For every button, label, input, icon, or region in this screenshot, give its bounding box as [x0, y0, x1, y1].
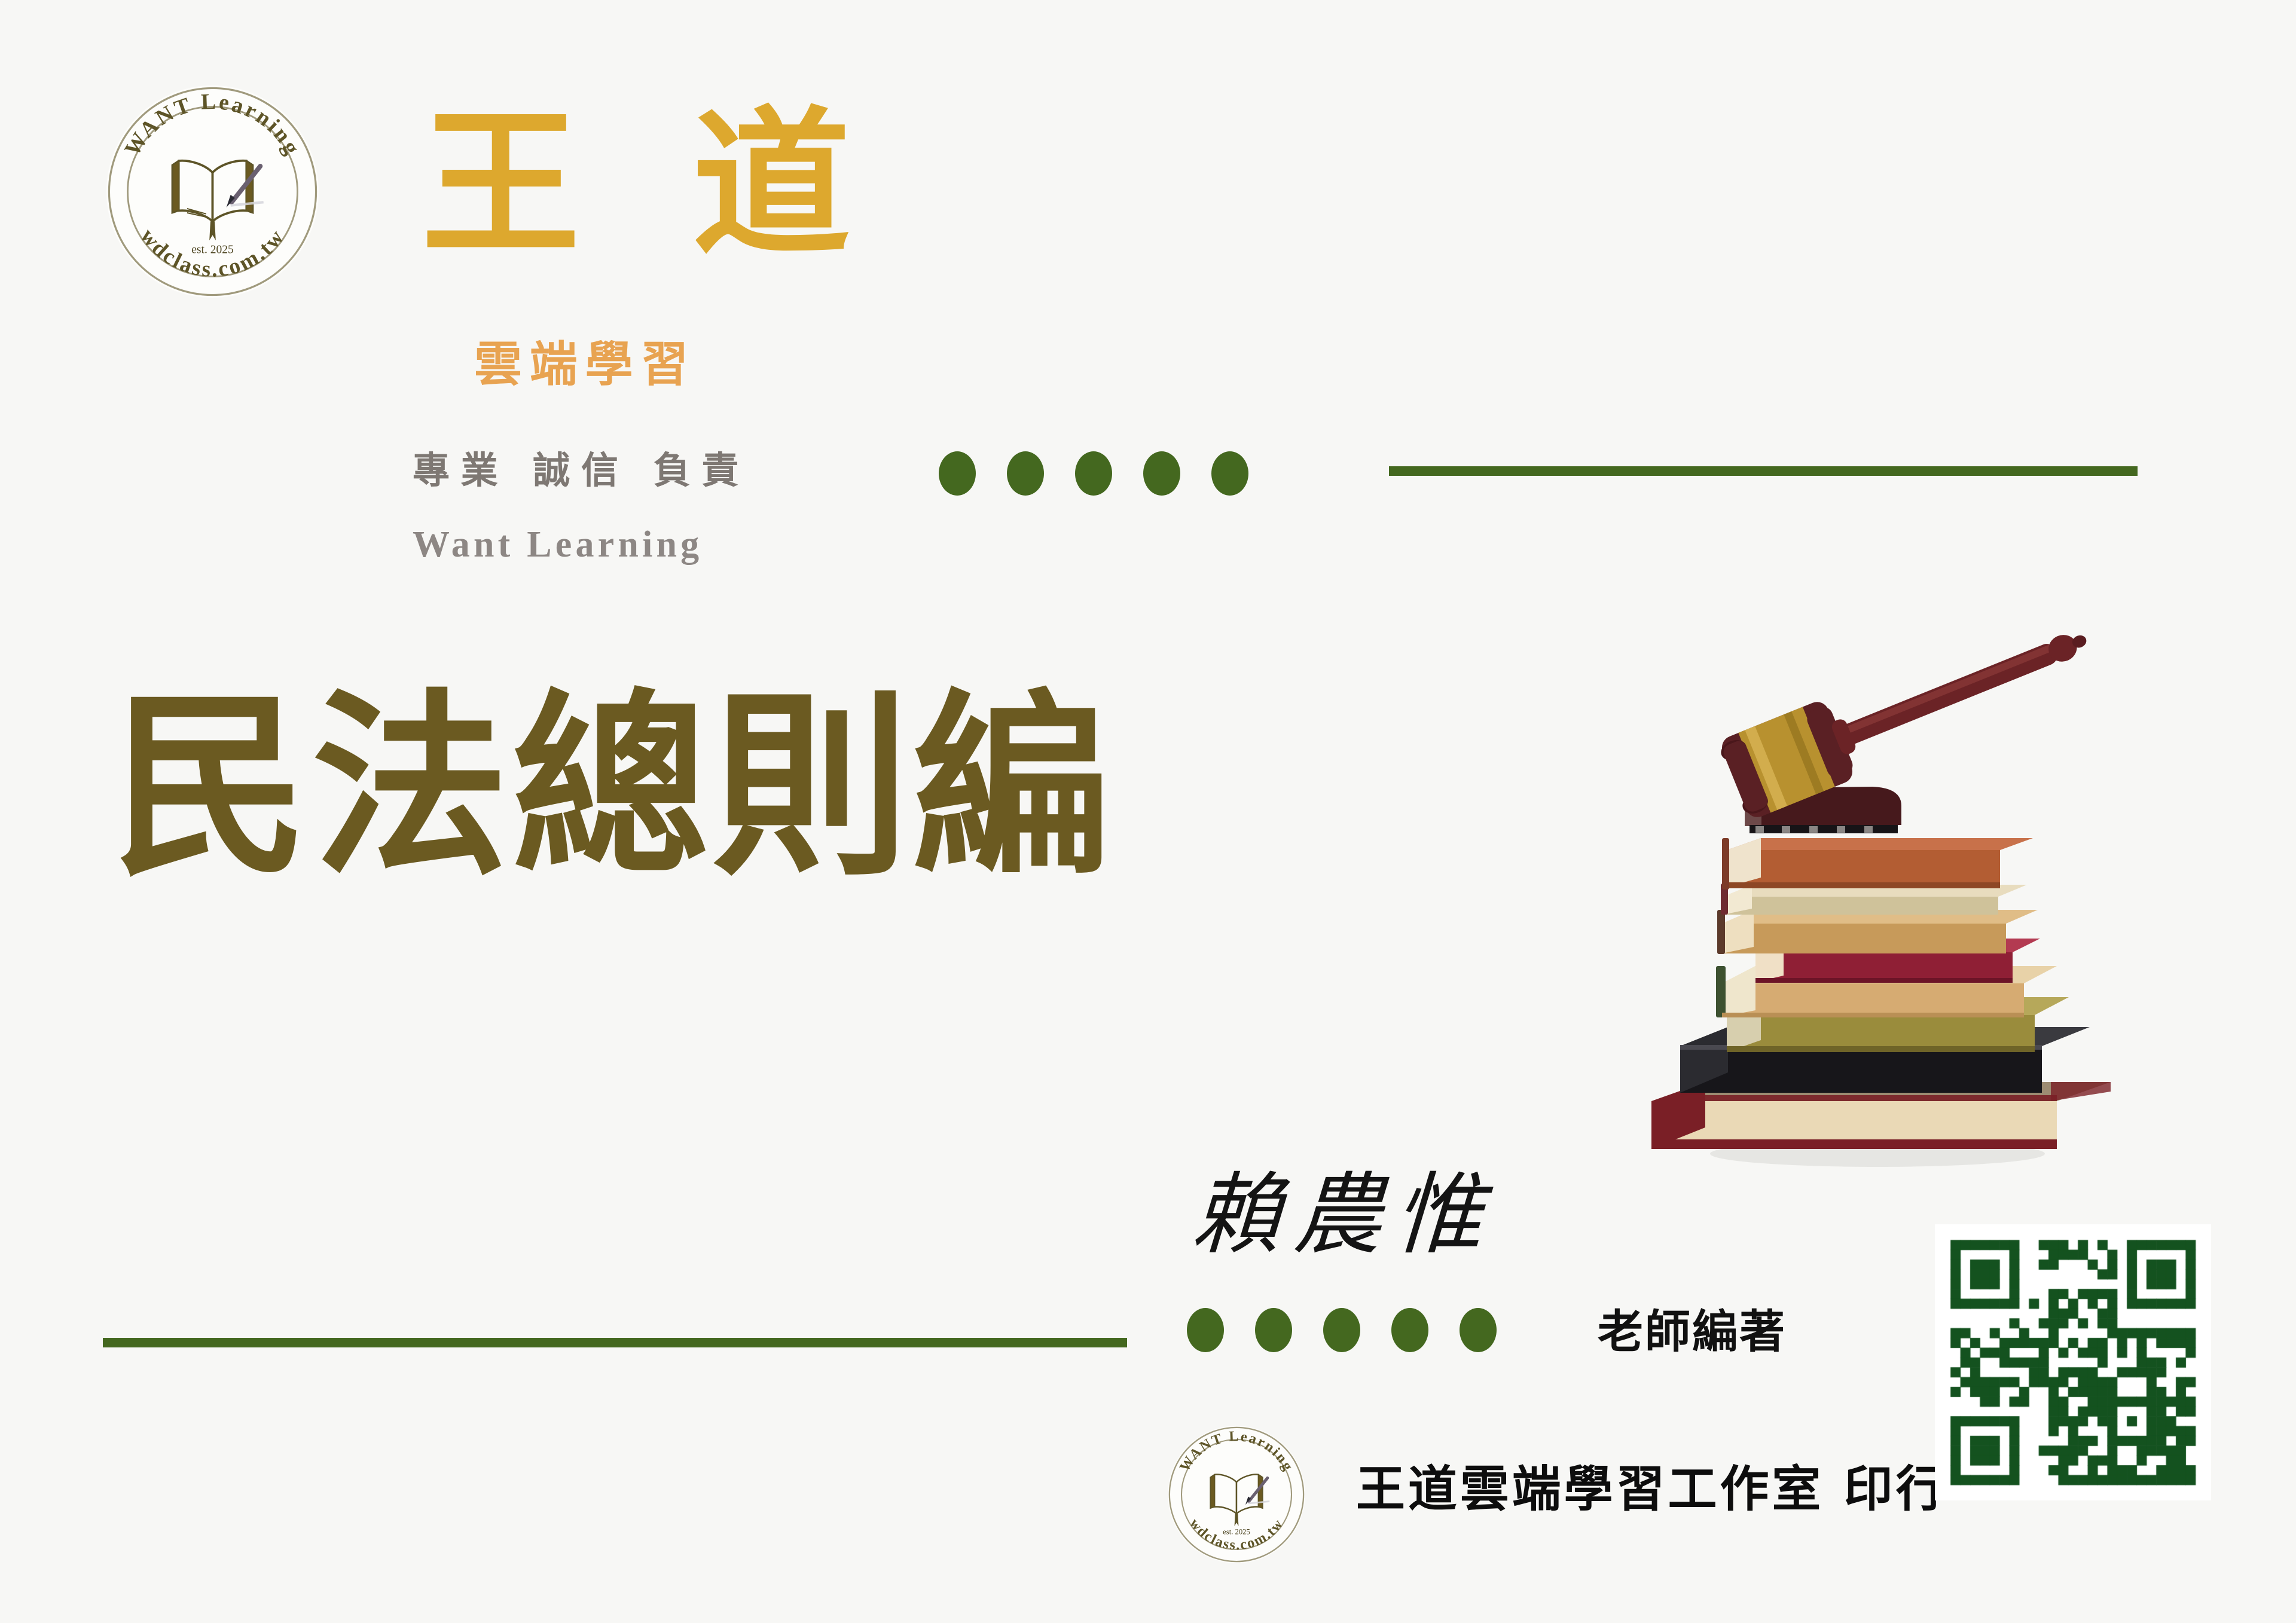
qr-code-canvas[interactable] [1935, 1224, 2211, 1500]
footer-logo: WANT Learning wdclass.com.tw est. 2025 [1168, 1426, 1305, 1563]
accent-dot [1143, 451, 1180, 496]
brand-slogan-en: Want Learning [413, 526, 703, 563]
book-tan [1717, 910, 2038, 954]
publisher-imprint: 王道雲端學習工作室 印行 [1356, 1465, 1948, 1514]
gavel-icon [1716, 628, 2102, 821]
law-books-svg [1638, 628, 2135, 1172]
law-books-illustration [1638, 628, 2135, 1172]
wdclass-qr-code[interactable] [1935, 1224, 2211, 1500]
accent-dot [1460, 1308, 1497, 1352]
author-role-label: 老師編著 [1598, 1309, 1787, 1355]
accent-dot [1391, 1308, 1428, 1352]
accent-dot [1007, 451, 1044, 496]
book-cover-page: WANT Learning wdclass.com.tw est. [0, 0, 2296, 1623]
brand-logotype: 王 道 [422, 105, 879, 263]
accent-dot [1323, 1308, 1360, 1352]
footer-logo-seal-svg: WANT Learning wdclass.com.tw est. 2025 [1168, 1426, 1305, 1563]
accent-rule-bottom [103, 1338, 1127, 1347]
want-learning-logo: WANT Learning wdclass.com.tw est. [106, 85, 319, 298]
accent-dot [1255, 1308, 1292, 1352]
logo-seal-svg: WANT Learning wdclass.com.tw est. [106, 85, 319, 298]
footer-logo-established-text: est. 2025 [1223, 1528, 1250, 1536]
accent-dot [939, 451, 976, 496]
accent-dot [1075, 451, 1112, 496]
logo-established-text: est. 2025 [191, 243, 233, 256]
brand-subtitle: 雲端學習 [474, 341, 696, 389]
author-signature: 賴農惟 [1190, 1170, 1498, 1259]
accent-dots-bottom [1187, 1306, 1546, 1354]
accent-dot [1211, 451, 1248, 496]
accent-dots-top [939, 450, 1297, 497]
accent-rule-top [1389, 466, 2138, 476]
accent-dot [1187, 1308, 1224, 1352]
brand-slogan-cn: 專業 誠信 負責 [413, 452, 750, 489]
page-title: 民法總則編 [111, 687, 1113, 885]
book-brown-top [1722, 838, 2033, 890]
